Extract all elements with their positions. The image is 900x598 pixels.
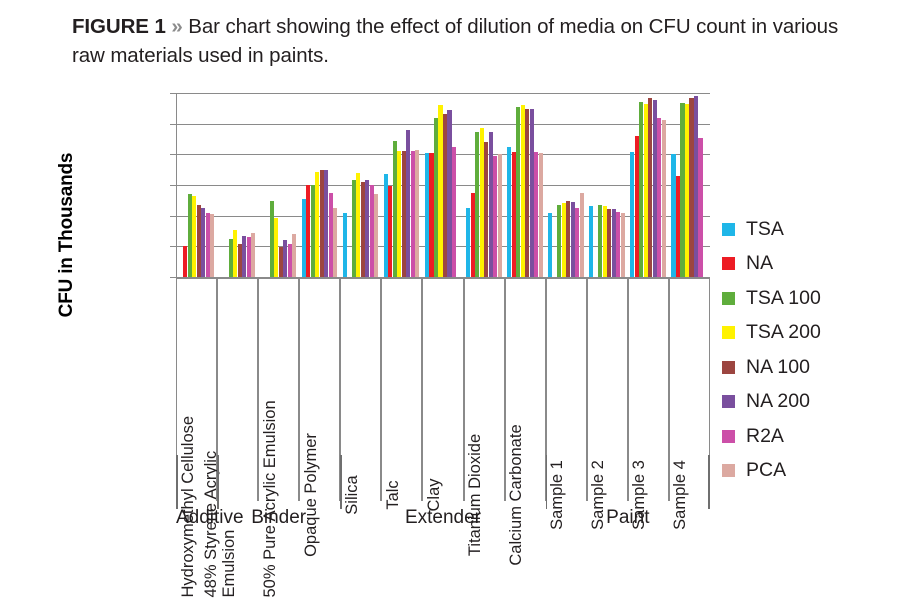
category-label-cell: Clay [422,279,463,501]
bar [333,208,337,277]
group-separator [217,455,219,509]
bar [662,120,666,277]
bar [635,136,639,277]
bar [621,213,625,277]
bar [270,201,274,277]
bar [393,141,397,277]
bar [306,185,310,277]
bar [329,193,333,277]
bar [580,193,584,277]
bar [279,247,283,277]
bar-group [548,93,584,277]
y-axis-tick [170,277,176,278]
chevron-icon: » [171,15,182,38]
legend-label: R2A [746,425,784,448]
y-axis-tick [170,124,176,125]
bar [493,156,497,277]
bar [315,172,319,277]
bar [210,214,214,277]
bar [324,170,328,277]
legend-label: TSA 100 [746,287,821,310]
legend-swatch-icon [722,361,735,374]
bar [415,150,419,277]
bar [484,142,488,277]
legend-swatch-icon [722,395,735,408]
legend-swatch-icon [722,464,735,477]
bar-group [466,93,502,277]
category-label-cell: Sample 4 [669,279,710,501]
bar [411,151,415,277]
legend-label: TSA [746,218,784,241]
bar [603,206,607,277]
legend-swatch-icon [722,292,735,305]
bar [425,153,429,277]
bar-group [671,93,707,277]
bar [352,180,356,277]
bar [680,103,684,277]
bar [644,104,648,277]
bar [201,208,205,277]
group-label: Additive [176,507,217,529]
bar [498,154,502,277]
bar [188,194,192,277]
caption-text: Bar chart showing the effect of dilution… [72,15,838,67]
category-label-cell: Opaque Polymer [299,279,340,501]
category-label-cell: Sample 2 [587,279,628,501]
bar [384,174,388,277]
plot-area: 10001001010.10.010.001 [176,93,710,277]
category-label-cell: Titanium Dioxide [464,279,505,501]
bar-group [261,93,297,277]
bar [589,206,593,277]
bar [516,107,520,277]
bar-group [630,93,666,277]
category-label-cell: Sample 1 [546,279,587,501]
legend-swatch-icon [722,257,735,270]
group-separator [176,455,178,509]
bar [571,202,575,277]
bar [698,138,702,277]
group-label: Extender [340,507,545,529]
bar [402,151,406,277]
bar [229,239,233,277]
bar [653,100,657,277]
bar [283,240,287,277]
legend-item[interactable]: PCA [722,454,821,489]
bar [183,246,187,277]
bar [530,109,534,277]
legend-swatch-icon [722,430,735,443]
bar [343,213,347,277]
bar-group [220,93,256,277]
bar [525,109,529,277]
bar [361,182,365,277]
bar [233,230,237,277]
bar [676,176,680,277]
legend-label: TSA 200 [746,321,821,344]
bar [512,152,516,277]
y-axis-tick [170,93,176,94]
bar [557,205,561,277]
bar [206,213,210,277]
legend-swatch-icon [722,223,735,236]
bar [694,96,698,277]
legend-item[interactable]: R2A [722,419,821,454]
bar [356,173,360,277]
bar [507,147,511,277]
bar [406,130,410,277]
legend-item[interactable]: TSA 200 [722,316,821,351]
group-label-row: AdditiveBinderExtenderPaint [176,501,710,547]
group-separator [708,455,710,509]
bar [434,118,438,277]
bar [534,152,538,277]
bar [489,132,493,277]
bar [438,105,442,277]
bar [548,213,552,277]
bar [192,196,196,277]
bar [630,152,634,277]
legend-item[interactable]: NA [722,247,821,282]
bar-group [384,93,420,277]
bar [639,102,643,277]
legend-item[interactable]: TSA 100 [722,281,821,316]
bar [539,153,543,277]
bar [671,154,675,277]
bar-group [302,93,338,277]
bar [689,98,693,277]
bar-group [507,93,543,277]
y-axis-title: CFU in Thousands [56,120,78,350]
category-label-cell: Talc [381,279,422,501]
category-label-cell: 48% Styrene Acrylic Emulsion [217,279,258,501]
group-label: Binder [217,507,340,529]
legend-item[interactable]: NA 200 [722,385,821,420]
bar [685,104,689,277]
legend-swatch-icon [722,326,735,339]
bar [302,199,306,277]
group-separator [340,455,342,509]
bar [521,105,525,277]
bar [274,218,278,277]
bar [370,185,374,277]
bar [388,186,392,277]
bar [197,205,201,277]
legend-item[interactable]: NA 100 [722,350,821,385]
gridline [176,277,710,278]
bar [598,205,602,277]
category-label: 48% Styrene Acrylic Emulsion [202,393,238,598]
figure-chart-area: CFU in Thousands 10001001010.10.010.001 … [0,74,900,550]
bar-group [179,93,215,277]
bar [452,147,456,277]
category-label-row: Hydroxymethyl Cellulose48% Styrene Acryl… [176,279,710,501]
y-axis-tick [170,216,176,217]
legend-label: PCA [746,459,786,482]
bar [251,233,255,277]
bar [247,237,251,277]
legend-item[interactable]: TSA [722,212,821,247]
legend-label: NA [746,252,773,275]
chart-legend: TSANATSA 100TSA 200NA 100NA 200R2APCA [722,212,821,488]
bar [288,244,292,277]
category-label-cell: Calcium Carbonate [505,279,546,501]
bar [612,209,616,277]
figure-caption: FIGURE 1 » Bar chart showing the effect … [72,12,862,70]
group-label: Paint [546,507,710,529]
bar-group [425,93,461,277]
bar-group [343,93,379,277]
bar [607,209,611,277]
bar [242,236,246,277]
category-label: 50% Pure Acrylic Emulsion [261,393,279,598]
bar [480,128,484,277]
category-label-cell: Silica [340,279,381,501]
bar [471,193,475,277]
category-label-cell: 50% Pure Acrylic Emulsion [258,279,299,501]
bar [238,244,242,277]
group-separator [546,455,548,509]
bar [566,201,570,277]
y-axis-tick [170,154,176,155]
y-axis-tick [170,185,176,186]
bar [311,185,315,277]
bar [475,132,479,277]
bar [397,151,401,277]
category-label-cell: Sample 3 [628,279,669,501]
figure-label: FIGURE 1 [72,15,166,38]
bar [374,194,378,277]
bar [292,234,296,277]
bar [648,98,652,277]
bar [562,203,566,277]
bar [575,208,579,277]
y-axis-tick [170,246,176,247]
bar [657,118,661,277]
category-label: Hydroxymethyl Cellulose [179,393,197,598]
bar [466,208,470,277]
legend-label: NA 100 [746,356,810,379]
bar [365,180,369,277]
bar [429,153,433,277]
bar [447,110,451,277]
bar [443,114,447,277]
bar [616,212,620,277]
legend-label: NA 200 [746,390,810,413]
bar-group [589,93,625,277]
bar [320,170,324,277]
